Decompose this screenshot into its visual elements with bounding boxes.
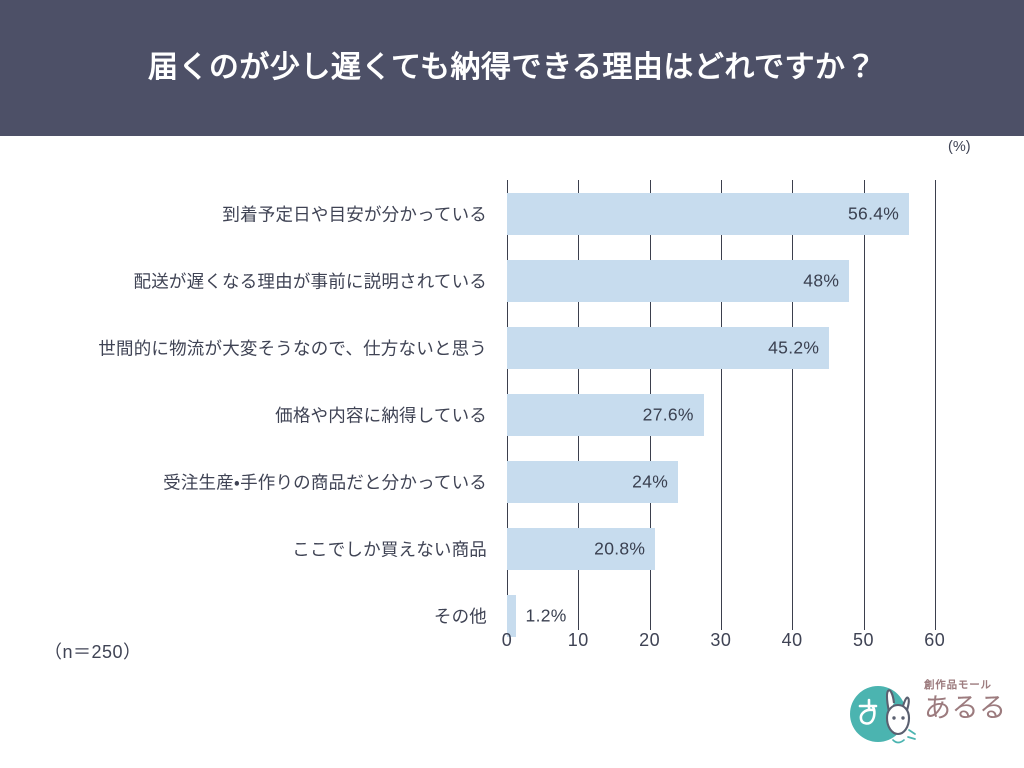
logo-name: あるる bbox=[924, 694, 1014, 722]
category-label: 受注生産・手作りの商品だと分かっている bbox=[163, 469, 487, 494]
x-tick-label-20: 20 bbox=[639, 630, 660, 651]
category-label: 到着予定日や目安が分かっている bbox=[222, 201, 487, 226]
category-label: 配送が遅くなる理由が事前に説明されている bbox=[134, 268, 487, 293]
bar-row: 世間的に物流が大変そうなので、仕方ないと思う45.2% bbox=[0, 314, 1024, 381]
bar-row: 配送が遅くなる理由が事前に説明されている48% bbox=[0, 247, 1024, 314]
logo-tagline: 創作品モール bbox=[924, 680, 1014, 691]
bar-row: 価格や内容に納得している27.6% bbox=[0, 381, 1024, 448]
category-label: 価格や内容に納得している bbox=[275, 402, 487, 427]
bar: 20.8% bbox=[507, 528, 655, 570]
category-label: 世間的に物流が大変そうなので、仕方ないと思う bbox=[98, 335, 487, 360]
logo-wordmark: 創作品モール あるる bbox=[924, 680, 1014, 722]
bar-row: 受注生産・手作りの商品だと分かっている24% bbox=[0, 448, 1024, 515]
bar-value-label: 27.6% bbox=[643, 404, 694, 425]
x-tick-label-60: 60 bbox=[924, 630, 945, 651]
bar-value-label: 20.8% bbox=[594, 538, 645, 559]
sample-size-note: （n＝250） bbox=[44, 638, 142, 664]
x-tick-label-0: 0 bbox=[502, 630, 513, 651]
brand-logo: 創作品モール あるる bbox=[848, 674, 1010, 752]
bar-value-label: 24% bbox=[632, 471, 668, 492]
x-tick-label-10: 10 bbox=[568, 630, 589, 651]
x-axis: 0102030405060 bbox=[0, 630, 1024, 660]
bar: 45.2% bbox=[507, 327, 829, 369]
category-label: ここでしか買えない商品 bbox=[292, 536, 487, 561]
bar-value-label: 48% bbox=[803, 270, 839, 291]
aruru-rabbit-mark-icon bbox=[848, 678, 922, 748]
x-tick-label-50: 50 bbox=[853, 630, 874, 651]
bar-row: 到着予定日や目安が分かっている56.4% bbox=[0, 180, 1024, 247]
x-tick-label-30: 30 bbox=[710, 630, 731, 651]
bar-row: ここでしか買えない商品20.8% bbox=[0, 515, 1024, 582]
bar: 24% bbox=[507, 461, 678, 503]
header-bar: 届くのが少し遅くても納得できる理由はどれですか？ bbox=[0, 0, 1024, 136]
x-tick-label-40: 40 bbox=[782, 630, 803, 651]
x-axis-unit-label: (%) bbox=[948, 139, 971, 155]
bar-value-label: 45.2% bbox=[768, 337, 819, 358]
bar: 48% bbox=[507, 260, 849, 302]
bar: 27.6% bbox=[507, 394, 704, 436]
page-title: 届くのが少し遅くても納得できる理由はどれですか？ bbox=[148, 50, 876, 86]
category-label: その他 bbox=[434, 603, 487, 628]
bar-value-label: 56.4% bbox=[848, 203, 899, 224]
bar: 56.4% bbox=[507, 193, 909, 235]
bar-value-label: 1.2% bbox=[526, 605, 567, 626]
